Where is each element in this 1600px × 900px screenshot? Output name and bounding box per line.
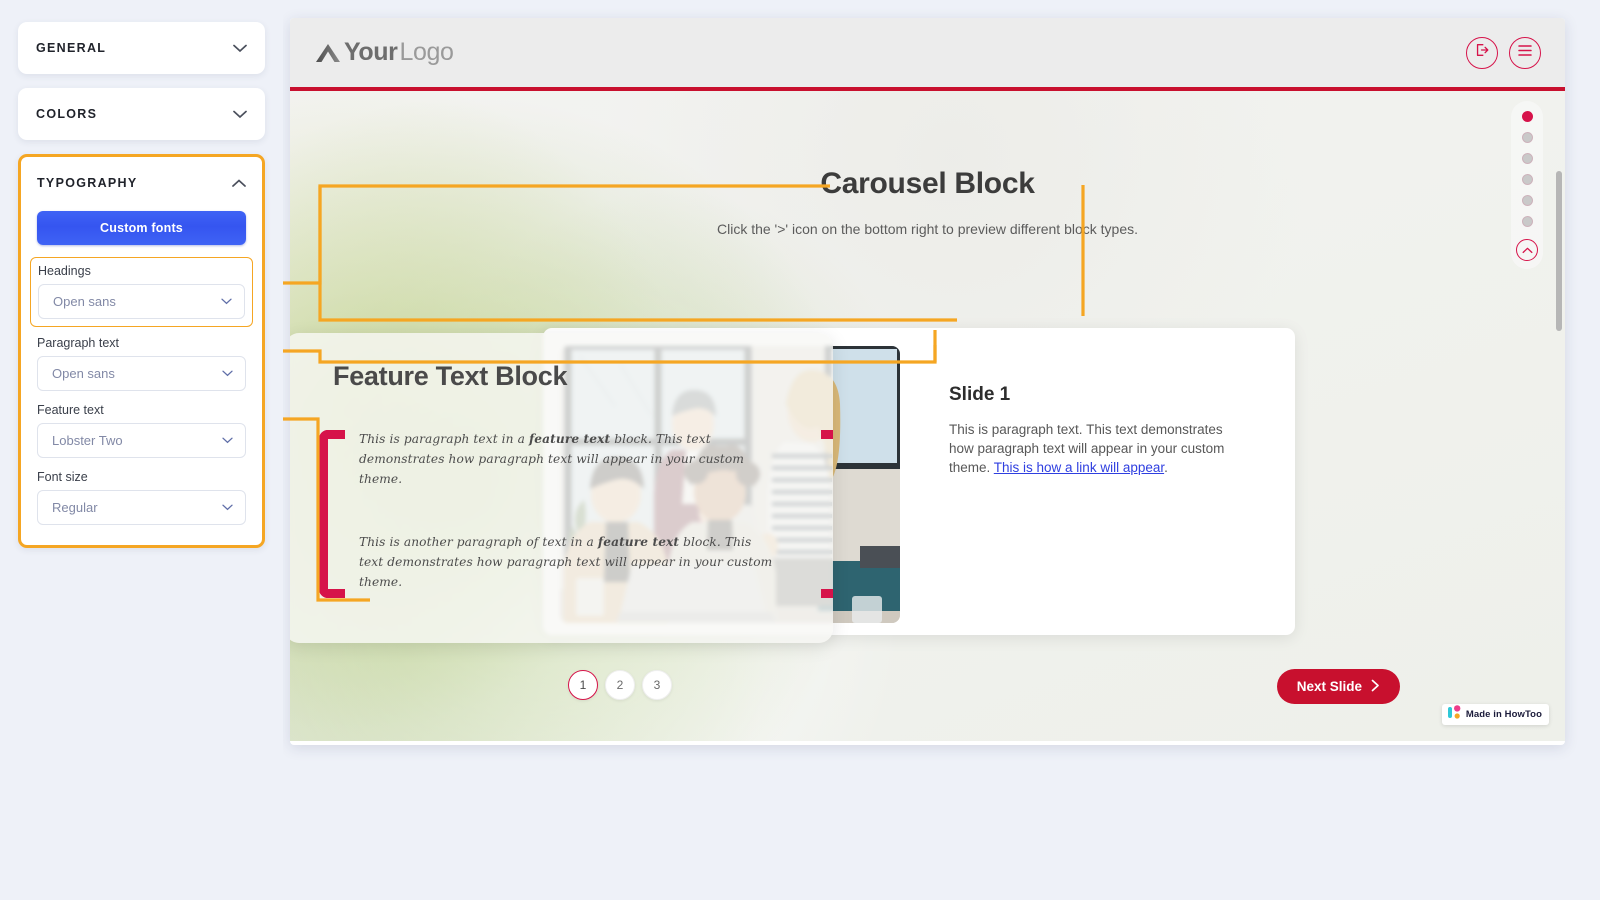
field-feature-text: Feature text Lobster Two xyxy=(37,403,246,458)
font-size-value: Regular xyxy=(52,500,98,515)
menu-button[interactable] xyxy=(1509,37,1541,69)
slide-paragraph-period: . xyxy=(1164,460,1168,475)
scroll-to-top-button[interactable] xyxy=(1516,239,1538,261)
feature-p2-emphasis: feature text xyxy=(598,535,679,549)
rail-dot-4[interactable] xyxy=(1522,174,1533,185)
hamburger-menu-icon xyxy=(1517,44,1533,62)
sidebar-section-colors[interactable]: COLORS xyxy=(18,88,265,140)
typography-panel-body: Custom fonts Headings Open sans Paragrap… xyxy=(21,209,262,545)
made-in-howtoo-badge[interactable]: Made in HowToo xyxy=(1442,704,1549,725)
slide-text-content: Slide 1 This is paragraph text. This tex… xyxy=(949,384,1249,477)
slide-paragraph: This is paragraph text. This text demons… xyxy=(949,420,1249,477)
chevron-down-icon[interactable] xyxy=(233,110,247,119)
theme-preview-window: Your Logo xyxy=(290,18,1565,745)
logout-icon xyxy=(1474,42,1490,63)
slide-link[interactable]: This is how a link will appear xyxy=(994,460,1164,475)
chevron-up-icon[interactable] xyxy=(232,179,246,188)
next-slide-label: Next Slide xyxy=(1297,679,1362,694)
feature-p2-pre: This is another paragraph of text in a xyxy=(359,535,598,549)
field-label-paragraph-text: Paragraph text xyxy=(37,336,246,350)
feature-p1-emphasis: feature text xyxy=(529,432,610,446)
theme-settings-sidebar: GENERAL COLORS TYPOGRAPHY Custom fonts H… xyxy=(0,0,283,760)
field-font-size: Font size Regular xyxy=(37,470,246,525)
chevron-down-icon xyxy=(222,502,233,514)
section-title-typography: TYPOGRAPHY xyxy=(37,176,138,190)
rail-dot-3[interactable] xyxy=(1522,153,1533,164)
page-subtitle: Click the '>' icon on the bottom right t… xyxy=(290,221,1565,237)
pagination-dot-2[interactable]: 2 xyxy=(605,670,635,700)
feature-block-title: Feature Text Block xyxy=(333,361,787,392)
chevron-down-icon[interactable] xyxy=(233,44,247,53)
section-header-colors[interactable]: COLORS xyxy=(18,88,265,140)
page-title: Carousel Block xyxy=(290,167,1565,201)
rail-dot-5[interactable] xyxy=(1522,195,1533,206)
howtoo-logo-icon xyxy=(1448,705,1461,724)
carousel-pagination: 1 2 3 xyxy=(568,670,672,700)
rail-dot-2[interactable] xyxy=(1522,132,1533,143)
field-headings: Headings Open sans xyxy=(30,257,253,327)
chevron-down-icon xyxy=(222,435,233,447)
feature-paragraph-1: This is paragraph text in a feature text… xyxy=(333,430,787,489)
sidebar-section-typography[interactable]: TYPOGRAPHY Custom fonts Headings Open sa… xyxy=(18,154,265,548)
right-bracket-icon xyxy=(821,430,833,598)
left-bracket-icon xyxy=(319,430,345,598)
caret-up-logo-icon xyxy=(314,41,342,65)
pagination-dot-1[interactable]: 1 xyxy=(568,670,598,700)
preview-page-body: Carousel Block Click the '>' icon on the… xyxy=(290,91,1565,741)
feature-p1-pre: This is paragraph text in a xyxy=(359,432,529,446)
badge-label: Made in HowToo xyxy=(1466,709,1542,720)
section-navigation-rail xyxy=(1511,101,1543,269)
feature-paragraph-2: This is another paragraph of text in a f… xyxy=(333,533,787,592)
logout-button[interactable] xyxy=(1466,37,1498,69)
site-logo[interactable]: Your Logo xyxy=(314,38,454,67)
preview-site-header: Your Logo xyxy=(290,18,1565,91)
chevron-right-icon xyxy=(1371,679,1380,695)
rail-dot-6[interactable] xyxy=(1522,216,1533,227)
feature-quote-brackets: This is paragraph text in a feature text… xyxy=(333,430,787,593)
slide-title: Slide 1 xyxy=(949,384,1249,406)
feature-font-select[interactable]: Lobster Two xyxy=(37,423,246,458)
field-paragraph-text: Paragraph text Open sans xyxy=(37,336,246,391)
font-size-select[interactable]: Regular xyxy=(37,490,246,525)
headings-font-value: Open sans xyxy=(53,294,116,309)
chevron-down-icon xyxy=(222,368,233,380)
feature-font-value: Lobster Two xyxy=(52,433,123,448)
field-label-feature-text: Feature text xyxy=(37,403,246,417)
paragraph-font-select[interactable]: Open sans xyxy=(37,356,246,391)
section-header-general[interactable]: GENERAL xyxy=(18,22,265,74)
logo-text-primary: Your xyxy=(344,38,398,67)
field-label-headings: Headings xyxy=(38,264,245,278)
section-header-typography[interactable]: TYPOGRAPHY xyxy=(21,157,262,209)
next-slide-button[interactable]: Next Slide xyxy=(1277,669,1400,704)
chevron-up-icon xyxy=(1522,241,1533,259)
section-title-general: GENERAL xyxy=(36,41,106,55)
paragraph-font-value: Open sans xyxy=(52,366,115,381)
logo-text-secondary: Logo xyxy=(400,38,454,67)
section-title-colors: COLORS xyxy=(36,107,97,121)
field-label-font-size: Font size xyxy=(37,470,246,484)
header-actions xyxy=(1466,37,1541,69)
pagination-dot-3[interactable]: 3 xyxy=(642,670,672,700)
custom-fonts-button[interactable]: Custom fonts xyxy=(37,211,246,245)
headings-font-select[interactable]: Open sans xyxy=(38,284,245,319)
chevron-down-icon xyxy=(221,296,232,308)
preview-scrollbar-thumb[interactable] xyxy=(1556,171,1562,331)
feature-text-block: Feature Text Block This is paragraph tex… xyxy=(290,333,833,643)
sidebar-section-general[interactable]: GENERAL xyxy=(18,22,265,74)
rail-dot-1[interactable] xyxy=(1522,111,1533,122)
